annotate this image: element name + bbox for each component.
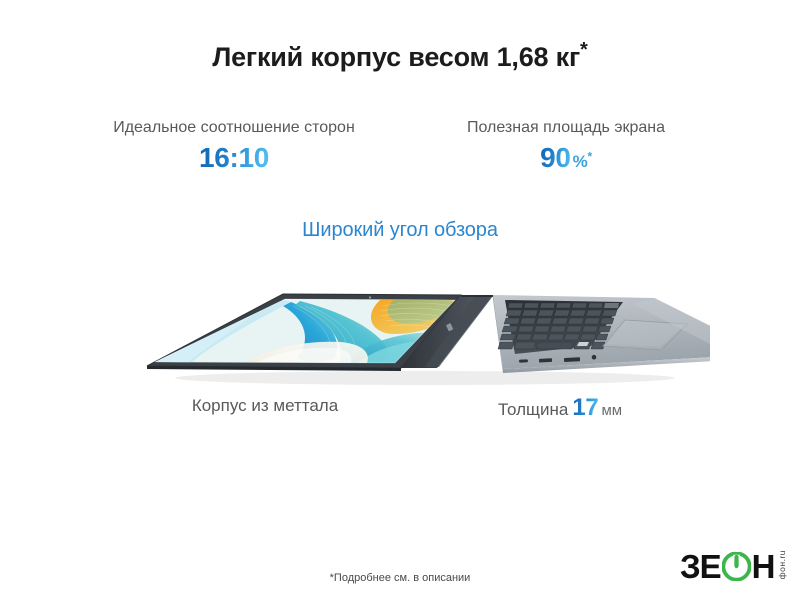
brand-logo-wordmark: ЗЕН <box>680 550 775 583</box>
spec-aspect-ratio: Идеальное соотношение сторон 16:10 <box>84 118 384 174</box>
spec-screen-area-label: Полезная площадь экрана <box>416 118 716 138</box>
headline-footnote-marker: * <box>580 39 588 61</box>
caption-metal-body: Корпус из меттала <box>120 396 410 416</box>
brand-logo-letter-e: Е <box>700 550 721 583</box>
spec-aspect-ratio-label: Идеальное соотношение сторон <box>84 118 384 138</box>
page-title: Легкий корпус весом 1,68 кг* <box>0 42 800 73</box>
brand-logo-letter-z: З <box>680 550 700 583</box>
brand-logo[interactable]: ЗЕН фон.ru <box>680 540 786 592</box>
caption-thickness-prefix: Толщина <box>498 400 568 419</box>
laptop-product-image <box>95 262 710 392</box>
spec-row: Идеальное соотношение сторон 16:10 Полез… <box>0 118 800 174</box>
headline-text: Легкий корпус весом 1,68 кг <box>212 42 580 72</box>
promo-banner: Легкий корпус весом 1,68 кг* Идеальное с… <box>0 0 800 600</box>
spec-screen-area: Полезная площадь экрана 90%* <box>416 118 716 174</box>
spec-aspect-ratio-value: 16:10 <box>84 142 384 174</box>
power-button-icon <box>722 552 751 581</box>
caption-thickness-value: 17 <box>572 394 598 421</box>
viewing-angle-caption: Широкий угол обзора <box>0 219 800 242</box>
spec-screen-area-footnote-marker: * <box>588 149 592 163</box>
caption-thickness: Толщина17мм <box>430 394 690 422</box>
spec-aspect-ratio-number: 16:10 <box>199 142 269 173</box>
spec-screen-area-number: 90 <box>540 142 571 173</box>
brand-logo-letter-n: Н <box>752 550 775 583</box>
percent-symbol: % <box>573 152 588 171</box>
caption-thickness-unit: мм <box>601 402 622 419</box>
spec-screen-area-value: 90%* <box>416 142 716 174</box>
spec-screen-area-unit: %* <box>573 152 592 171</box>
brand-logo-domain: фон.ru <box>778 550 787 579</box>
